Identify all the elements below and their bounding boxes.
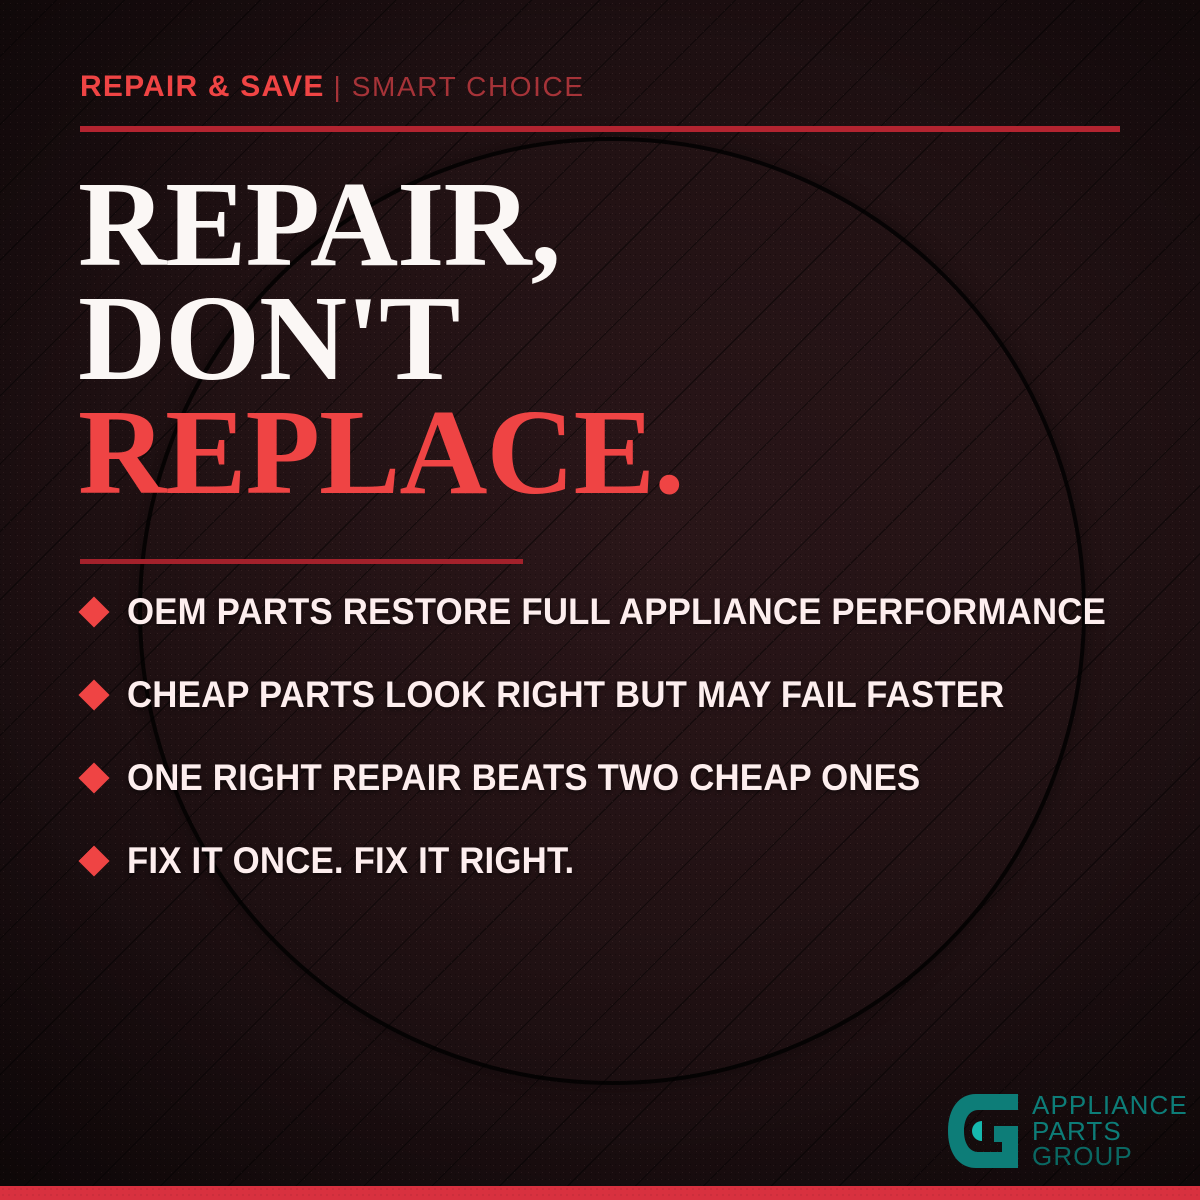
brand-logo: APPLIANCE PARTS GROUP [946,1092,1188,1170]
benefit-list: OEM PARTS RESTORE FULL APPLIANCE PERFORM… [80,588,1160,885]
eyebrow-primary-label: REPAIR & SAVE [80,70,325,103]
diamond-bullet-icon [78,679,109,710]
bottom-accent-bar [0,1186,1200,1200]
list-item-label: ONE RIGHT REPAIR BEATS TWO CHEAP ONES [127,757,920,799]
diamond-bullet-icon [78,762,109,793]
list-item: CHEAP PARTS LOOK RIGHT BUT MAY FAIL FAST… [80,671,1160,719]
brand-word-line-1: APPLIANCE [1032,1093,1188,1119]
headline-line-3: REPLACE. [78,396,1138,510]
list-item: OEM PARTS RESTORE FULL APPLIANCE PERFORM… [80,588,1160,636]
headline-line-2: DON'T [78,282,1138,396]
headline-divider-rule [80,559,523,564]
diamond-bullet-icon [78,596,109,627]
brand-logo-wordmark: APPLIANCE PARTS GROUP [1032,1092,1188,1170]
headline-line-1: REPAIR, [78,168,1138,282]
diamond-bullet-icon [78,845,109,876]
poster-content: REPAIR & SAVE| SMART CHOICE REPAIR, DON'… [0,0,1200,1200]
bottom-accent-bar-texture [0,1186,1200,1200]
g-monogram-icon [946,1092,1020,1170]
headline: REPAIR, DON'T REPLACE. [78,168,1138,510]
list-item-label: CHEAP PARTS LOOK RIGHT BUT MAY FAIL FAST… [127,674,1004,716]
list-item: ONE RIGHT REPAIR BEATS TWO CHEAP ONES [80,754,1160,802]
list-item: FIX IT ONCE. FIX IT RIGHT. [80,837,1160,885]
list-item-label: FIX IT ONCE. FIX IT RIGHT. [127,840,574,882]
poster-canvas: REPAIR & SAVE| SMART CHOICE REPAIR, DON'… [0,0,1200,1200]
eyebrow-secondary-label: | SMART CHOICE [334,71,585,102]
top-divider-rule [80,126,1120,132]
eyebrow: REPAIR & SAVE| SMART CHOICE [80,72,585,102]
list-item-label: OEM PARTS RESTORE FULL APPLIANCE PERFORM… [127,591,1106,633]
brand-word-line-3: GROUP [1032,1144,1188,1170]
